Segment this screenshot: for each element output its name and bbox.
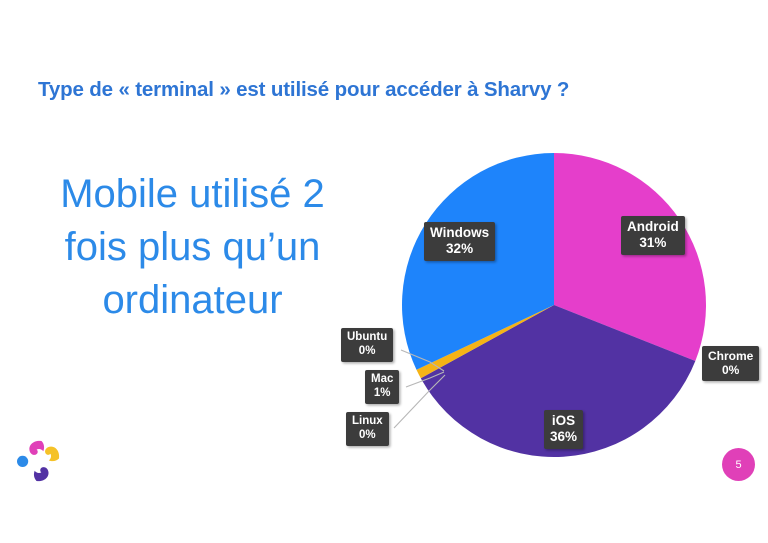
data-label-chrome-value: 0% — [708, 363, 753, 377]
data-label-android[interactable]: Android 31% — [621, 216, 685, 255]
logo-petal-yellow — [45, 447, 59, 462]
data-label-ubuntu-value: 0% — [347, 345, 387, 359]
data-label-ios-name: iOS — [550, 413, 577, 429]
data-label-ios[interactable]: iOS 36% — [544, 410, 583, 449]
page-title: Type de « terminal » est utilisé pour ac… — [38, 78, 728, 102]
data-label-windows[interactable]: Windows 32% — [424, 222, 495, 261]
slide-canvas: Type de « terminal » est utilisé pour ac… — [0, 0, 768, 543]
data-label-chrome-name: Chrome — [708, 349, 753, 363]
data-label-windows-name: Windows — [430, 225, 489, 241]
logo-petal-cyan — [17, 456, 28, 467]
data-label-linux[interactable]: Linux 0% — [346, 412, 389, 446]
data-label-linux-name: Linux — [352, 415, 383, 429]
data-label-windows-value: 32% — [430, 241, 489, 257]
headline-line-1: Mobile utilisé 2 — [20, 168, 365, 221]
data-label-ios-value: 36% — [550, 429, 577, 445]
data-label-ubuntu[interactable]: Ubuntu 0% — [341, 328, 393, 362]
pinwheel-logo-icon — [14, 436, 64, 486]
logo-petal-purple — [34, 467, 49, 481]
page-number-badge: 5 — [722, 448, 755, 481]
data-label-android-name: Android — [627, 219, 679, 235]
logo-petal-magenta — [29, 441, 44, 455]
data-label-chrome[interactable]: Chrome 0% — [702, 346, 759, 381]
headline-line-2: fois plus qu’un — [20, 221, 365, 274]
data-label-linux-value: 0% — [352, 429, 383, 443]
headline-statement: Mobile utilisé 2 fois plus qu’un ordinat… — [20, 168, 365, 328]
headline-line-3: ordinateur — [20, 274, 365, 327]
data-label-ubuntu-name: Ubuntu — [347, 331, 387, 345]
data-label-mac[interactable]: Mac 1% — [365, 370, 399, 404]
sharvy-pinwheel-logo — [14, 436, 64, 486]
data-label-mac-name: Mac — [371, 373, 393, 387]
data-label-android-value: 31% — [627, 235, 679, 251]
data-label-mac-value: 1% — [371, 387, 393, 401]
